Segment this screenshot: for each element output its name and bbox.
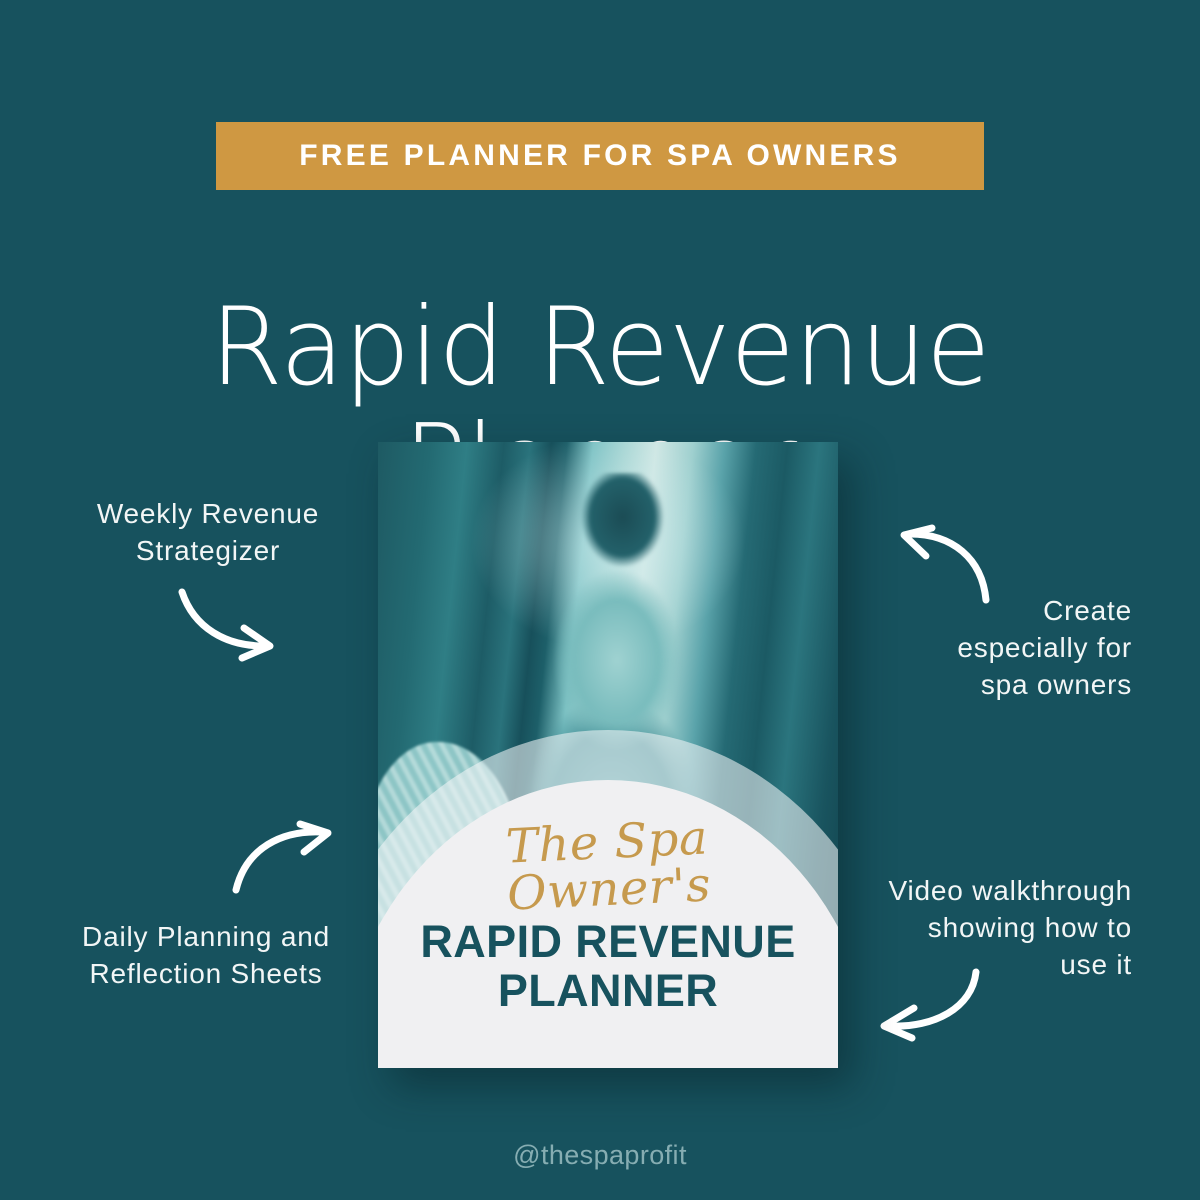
cover-text-block: The Spa Owner's RAPID REVENUE PLANNER (378, 819, 838, 1016)
curved-arrow-up-left-icon (898, 528, 998, 604)
eyebrow-label: FREE PLANNER FOR SPA OWNERS (299, 139, 900, 173)
annotation-video-walkthrough: Video walkthrough showing how to use it (842, 872, 1132, 984)
curved-arrow-down-left-icon (872, 968, 984, 1038)
cover-title-line-2: PLANNER (404, 966, 812, 1016)
promo-graphic: FREE PLANNER FOR SPA OWNERS Rapid Revenu… (0, 0, 1200, 1200)
annotation-weekly-revenue-strategizer: Weekly Revenue Strategizer (58, 495, 358, 569)
planner-book-mockup: The Spa Owner's RAPID REVENUE PLANNER (378, 442, 838, 1068)
annotation-daily-planning-reflection-sheets: Daily Planning and Reflection Sheets (56, 918, 356, 992)
eyebrow-banner: FREE PLANNER FOR SPA OWNERS (216, 122, 984, 190)
curved-arrow-up-right-icon (232, 824, 342, 896)
annotation-create-especially-for-spa-owners: Create especially for spa owners (882, 592, 1132, 704)
curved-arrow-down-right-icon (178, 588, 288, 658)
cover-title-line-1: RAPID REVENUE (404, 919, 812, 966)
cover-script-title: The Spa Owner's (398, 809, 818, 922)
social-handle: @thespaprofit (0, 1140, 1200, 1171)
